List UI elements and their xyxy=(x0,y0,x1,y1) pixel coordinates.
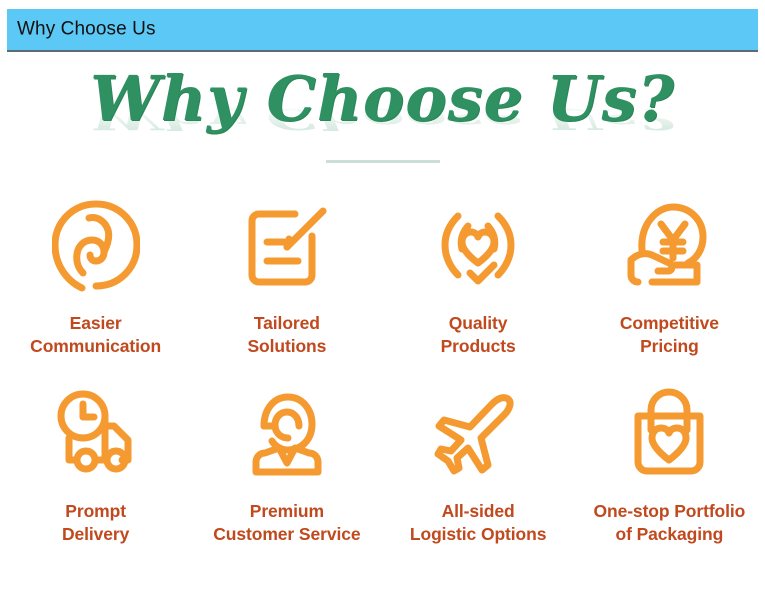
feature-label-line2: Communication xyxy=(30,335,161,358)
document-pencil-icon xyxy=(239,192,335,304)
feature-item-easier-communication[interactable]: Easier Communication xyxy=(0,192,191,357)
heart-signal-check-icon xyxy=(430,192,526,304)
hero-divider xyxy=(326,160,440,163)
feature-item-all-sided-logistic-options[interactable]: All-sided Logistic Options xyxy=(383,380,574,545)
hand-yen-coin-icon xyxy=(621,192,717,304)
feature-label: Tailored Solutions xyxy=(247,312,326,357)
feature-label-line2: Delivery xyxy=(62,523,129,546)
feature-label-line1: Prompt xyxy=(65,501,126,521)
feature-item-quality-products[interactable]: Quality Products xyxy=(383,192,574,357)
feature-label-line2: of Packaging xyxy=(593,523,745,546)
feature-grid: Easier Communication Tailored So xyxy=(0,192,765,545)
shopping-bag-heart-icon xyxy=(621,380,717,492)
feature-label: One-stop Portfolio of Packaging xyxy=(593,500,745,545)
feature-label-line2: Customer Service xyxy=(213,523,360,546)
hero-banner: Why Choose Us? Why Choose Us? xyxy=(0,57,765,175)
feature-label-line2: Logistic Options xyxy=(410,523,546,546)
feature-label-line1: Quality xyxy=(449,313,508,333)
ear-listening-icon xyxy=(48,192,144,304)
window-header-bar: Why Choose Us xyxy=(7,9,758,52)
truck-clock-icon xyxy=(48,380,144,492)
airplane-icon xyxy=(430,380,526,492)
window-title: Why Choose Us xyxy=(17,18,156,40)
feature-item-one-stop-portfolio-of-packaging[interactable]: One-stop Portfolio of Packaging xyxy=(574,380,765,545)
feature-label-line1: All-sided xyxy=(442,501,515,521)
feature-row: Easier Communication Tailored So xyxy=(0,192,765,357)
feature-label-line2: Solutions xyxy=(247,335,326,358)
feature-label-line2: Products xyxy=(441,335,516,358)
feature-label-line1: Easier xyxy=(70,313,122,333)
feature-label: All-sided Logistic Options xyxy=(410,500,546,545)
feature-label-line2: Pricing xyxy=(620,335,719,358)
feature-label: Easier Communication xyxy=(30,312,161,357)
feature-item-tailored-solutions[interactable]: Tailored Solutions xyxy=(191,192,382,357)
feature-item-competitive-pricing[interactable]: Competitive Pricing xyxy=(574,192,765,357)
feature-label: Premium Customer Service xyxy=(213,500,360,545)
feature-item-premium-customer-service[interactable]: Premium Customer Service xyxy=(191,380,382,545)
feature-label-line1: Premium xyxy=(250,501,324,521)
feature-item-prompt-delivery[interactable]: Prompt Delivery xyxy=(0,380,191,545)
headset-agent-icon xyxy=(239,380,335,492)
feature-row: Prompt Delivery Premium Customer Service xyxy=(0,380,765,545)
feature-label-line1: Tailored xyxy=(254,313,320,333)
feature-label-line1: One-stop Portfolio xyxy=(593,501,745,521)
feature-label: Competitive Pricing xyxy=(620,312,719,357)
feature-label: Prompt Delivery xyxy=(62,500,129,545)
hero-title: Why Choose Us? xyxy=(0,63,765,135)
feature-label: Quality Products xyxy=(441,312,516,357)
feature-label-line1: Competitive xyxy=(620,313,719,333)
